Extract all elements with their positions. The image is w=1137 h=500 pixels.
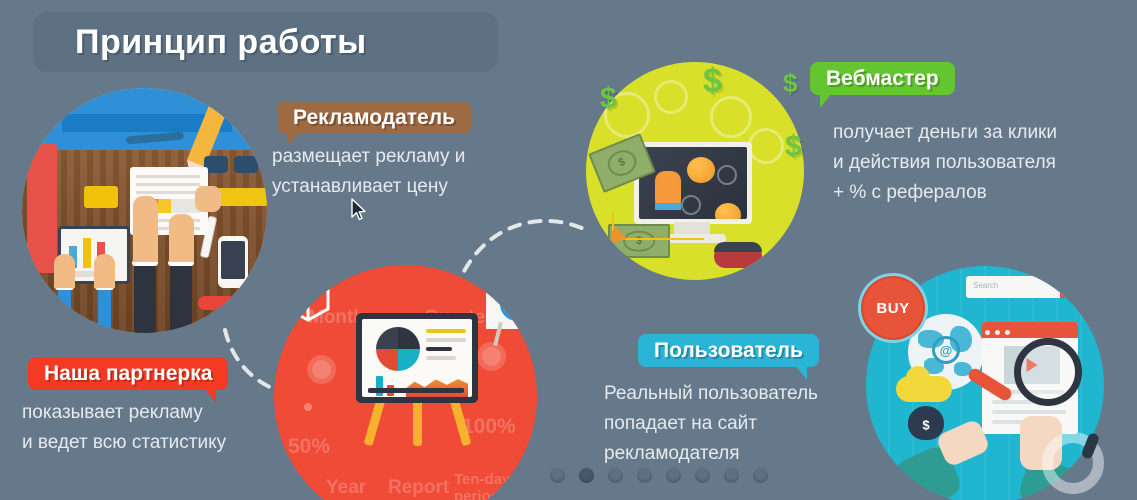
page-title-panel: Принцип работы: [33, 12, 498, 72]
money-monitor-illustration: $ $: [586, 62, 804, 280]
text-webmaster-line-1: получает деньги за клики: [833, 118, 1057, 148]
text-advertiser-line-2: устанавливает цену: [272, 172, 465, 202]
text-webmaster-line-2: и действия пользователя: [833, 148, 1057, 178]
logo-watermark: [1042, 432, 1104, 494]
carousel-dot-6[interactable]: [695, 468, 710, 483]
text-partner: показывает рекламу и ведет всю статистик…: [22, 398, 226, 458]
watermark-year: Year: [326, 477, 366, 499]
watermark-50: 50%: [288, 435, 330, 459]
pointing-hand-right: [169, 214, 194, 262]
pointing-hand-left: [133, 196, 158, 262]
arm-sleeve-blue-left: [58, 288, 71, 333]
coin-icon-2: [715, 203, 741, 219]
search-placeholder: Search: [973, 281, 998, 290]
deco-dot-right: [482, 347, 501, 366]
text-user: Реальный пользователь попадает на сайт р…: [604, 379, 818, 469]
text-webmaster: получает деньги за клики и действия поль…: [833, 118, 1057, 208]
sticky-note: [84, 186, 118, 208]
computer-mouse-icon: [714, 242, 762, 268]
label-partner: Наша партнерка: [28, 357, 228, 390]
deco-coin-ring-3: [710, 96, 752, 138]
mouse-cursor: [351, 198, 367, 222]
text-partner-line-1: показывает рекламу: [22, 398, 226, 428]
page-title: Принцип работы: [33, 23, 367, 62]
mouse-icon: [198, 296, 232, 310]
search-icon[interactable]: ⚲: [1060, 276, 1088, 298]
text-partner-line-2: и ведет всю статистику: [22, 428, 226, 458]
infographic-stage: Принцип работы: [0, 0, 1137, 500]
carousel-dot-2[interactable]: [579, 468, 594, 483]
carousel-dot-1[interactable]: [550, 468, 565, 483]
watermark-ten-day-period: Ten-day period: [454, 471, 520, 500]
text-advertiser: размещает рекламу и устанавливает цену: [272, 142, 465, 202]
arm-sleeve-blue-right: [98, 288, 111, 333]
smartphone-icon: [218, 236, 248, 288]
carousel-dot-7[interactable]: [724, 468, 739, 483]
text-advertiser-line-1: размещает рекламу и: [272, 142, 465, 172]
coin-icon-1: [687, 157, 715, 183]
yellow-ruler: [217, 188, 267, 206]
arm-sleeve-dark-left: [134, 264, 156, 333]
search-bar[interactable]: Search ⚲: [966, 276, 1088, 298]
carousel-dot-4[interactable]: [637, 468, 652, 483]
cloud-icon: [896, 376, 952, 402]
arm-sleeve-dark-right: [170, 264, 192, 333]
easel-legs: [364, 398, 472, 448]
deco-coin-ring-4: [748, 128, 784, 164]
cube-icon: [284, 275, 332, 323]
hand-left: [54, 254, 75, 288]
hand-right: [94, 254, 115, 288]
text-user-line-2: попадает на сайт: [604, 409, 818, 439]
carousel-dot-3[interactable]: [608, 468, 623, 483]
presentation-board: [356, 313, 478, 403]
at-sign-icon: @: [932, 336, 960, 364]
desk-workspace-illustration: [22, 88, 267, 333]
carousel-pagination[interactable]: [550, 468, 768, 483]
money-bag-icon: $: [908, 406, 944, 440]
label-webmaster: Вебмастер: [810, 62, 955, 95]
dollar-sign-1: $: [600, 82, 617, 116]
text-user-line-3: рекламодателя: [604, 439, 818, 469]
flipchart-icon: [486, 272, 537, 346]
magnifier-icon: [1014, 338, 1082, 406]
text-webmaster-line-3: + % с рефералов: [833, 178, 1057, 208]
deco-coin-ring-2: [654, 80, 688, 114]
carousel-dot-8[interactable]: [753, 468, 768, 483]
dollar-sign-2: $: [703, 62, 722, 101]
deco-dot-left: [312, 360, 331, 379]
text-user-line-1: Реальный пользователь: [604, 379, 818, 409]
area-chart: [406, 375, 468, 397]
desk-red-panel: [27, 143, 57, 273]
dollar-sign-4: $: [785, 130, 802, 164]
hand-upper-right: [195, 186, 221, 212]
pie-chart: [376, 327, 420, 371]
buy-badge: BUY: [858, 273, 928, 343]
glasses-icon: [204, 156, 260, 174]
deco-dot-small: [304, 403, 312, 411]
watermark-report: Report: [388, 477, 449, 499]
label-user: Пользователь: [638, 334, 819, 367]
dollar-sign-3: $: [783, 68, 797, 99]
carousel-dot-5[interactable]: [666, 468, 681, 483]
label-advertiser: Рекламодатель: [277, 101, 471, 134]
analytics-presentation-illustration: Month Quarter 50% 100% Year Report Ten-d…: [274, 265, 537, 500]
buy-badge-label: BUY: [866, 281, 920, 335]
cursor-hand-icon: [655, 171, 681, 205]
cable-line: [612, 212, 704, 240]
legend-lines: [426, 329, 466, 365]
